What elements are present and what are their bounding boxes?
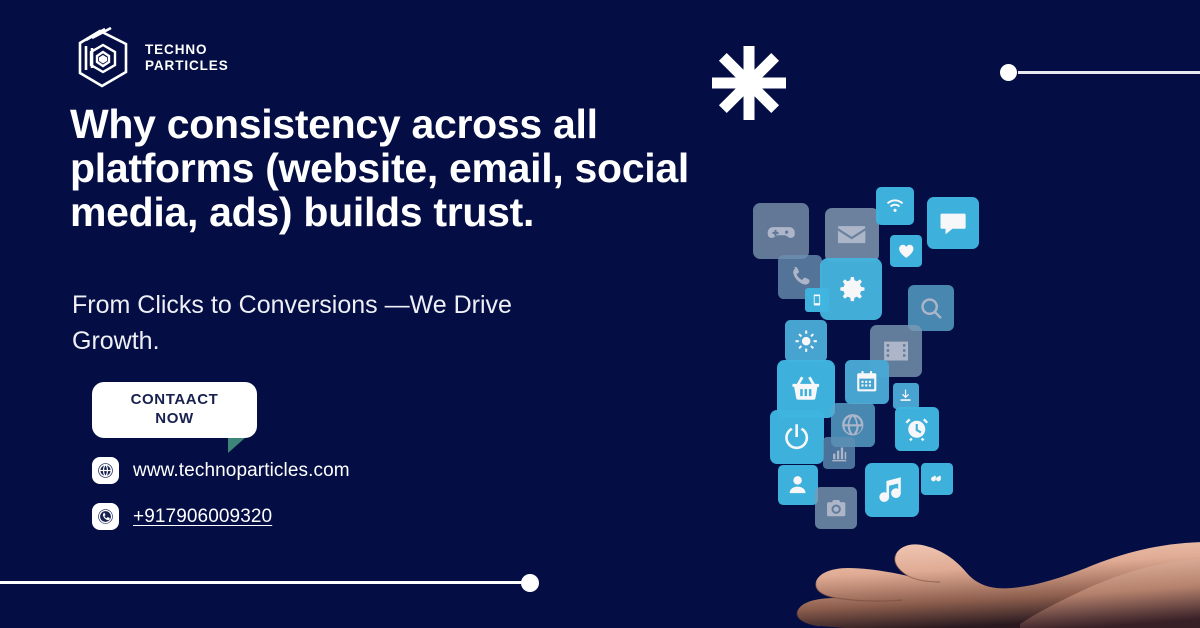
dot-decoration-bottom-left xyxy=(521,574,539,592)
chat-bubble-icon xyxy=(927,197,979,249)
envelope-icon xyxy=(825,208,879,262)
chart-icon xyxy=(823,437,855,469)
download-icon xyxy=(893,383,919,409)
gear-icon xyxy=(820,258,882,320)
gamepad-icon xyxy=(753,203,809,259)
website-text: www.technoparticles.com xyxy=(133,460,350,482)
heart-icon xyxy=(890,235,922,267)
sun-icon xyxy=(785,320,827,362)
contact-website[interactable]: www.technoparticles.com xyxy=(92,457,350,484)
open-palm-hand-photo xyxy=(690,498,1200,628)
headline: Why consistency across all platforms (we… xyxy=(70,103,690,235)
contact-phone[interactable]: +917906009320 xyxy=(92,503,272,530)
mobile-icon xyxy=(805,288,829,312)
alarm-icon xyxy=(895,407,939,451)
calendar-icon xyxy=(845,360,889,404)
phone-text: +917906009320 xyxy=(133,506,272,528)
cta-container: CONTAACT NOW xyxy=(92,382,257,438)
brand-name-line1: TECHNO xyxy=(145,42,207,57)
marketing-banner: TECHNO PARTICLES Why consistency across … xyxy=(0,0,1200,628)
brand-name-line2: PARTICLES xyxy=(145,58,229,73)
asterisk-star-icon xyxy=(712,46,786,120)
app-icon-collage xyxy=(735,145,995,535)
speaker-icon xyxy=(921,463,953,495)
contact-now-button[interactable]: CONTAACT NOW xyxy=(92,382,257,438)
power-icon xyxy=(770,410,824,464)
line-decoration-bottom-left xyxy=(0,581,532,584)
brand-name: TECHNO PARTICLES xyxy=(145,42,229,75)
wifi-icon xyxy=(876,187,914,225)
phone-circle-icon xyxy=(92,503,119,530)
subheadline: From Clicks to Conversions —We Drive Gro… xyxy=(72,287,592,360)
cube-particles-logo-icon xyxy=(72,26,134,90)
line-decoration-top-right xyxy=(1018,71,1200,74)
brand-logo[interactable]: TECHNO PARTICLES xyxy=(72,26,229,90)
dot-decoration-top-right xyxy=(1000,64,1017,81)
globe-icon xyxy=(92,457,119,484)
